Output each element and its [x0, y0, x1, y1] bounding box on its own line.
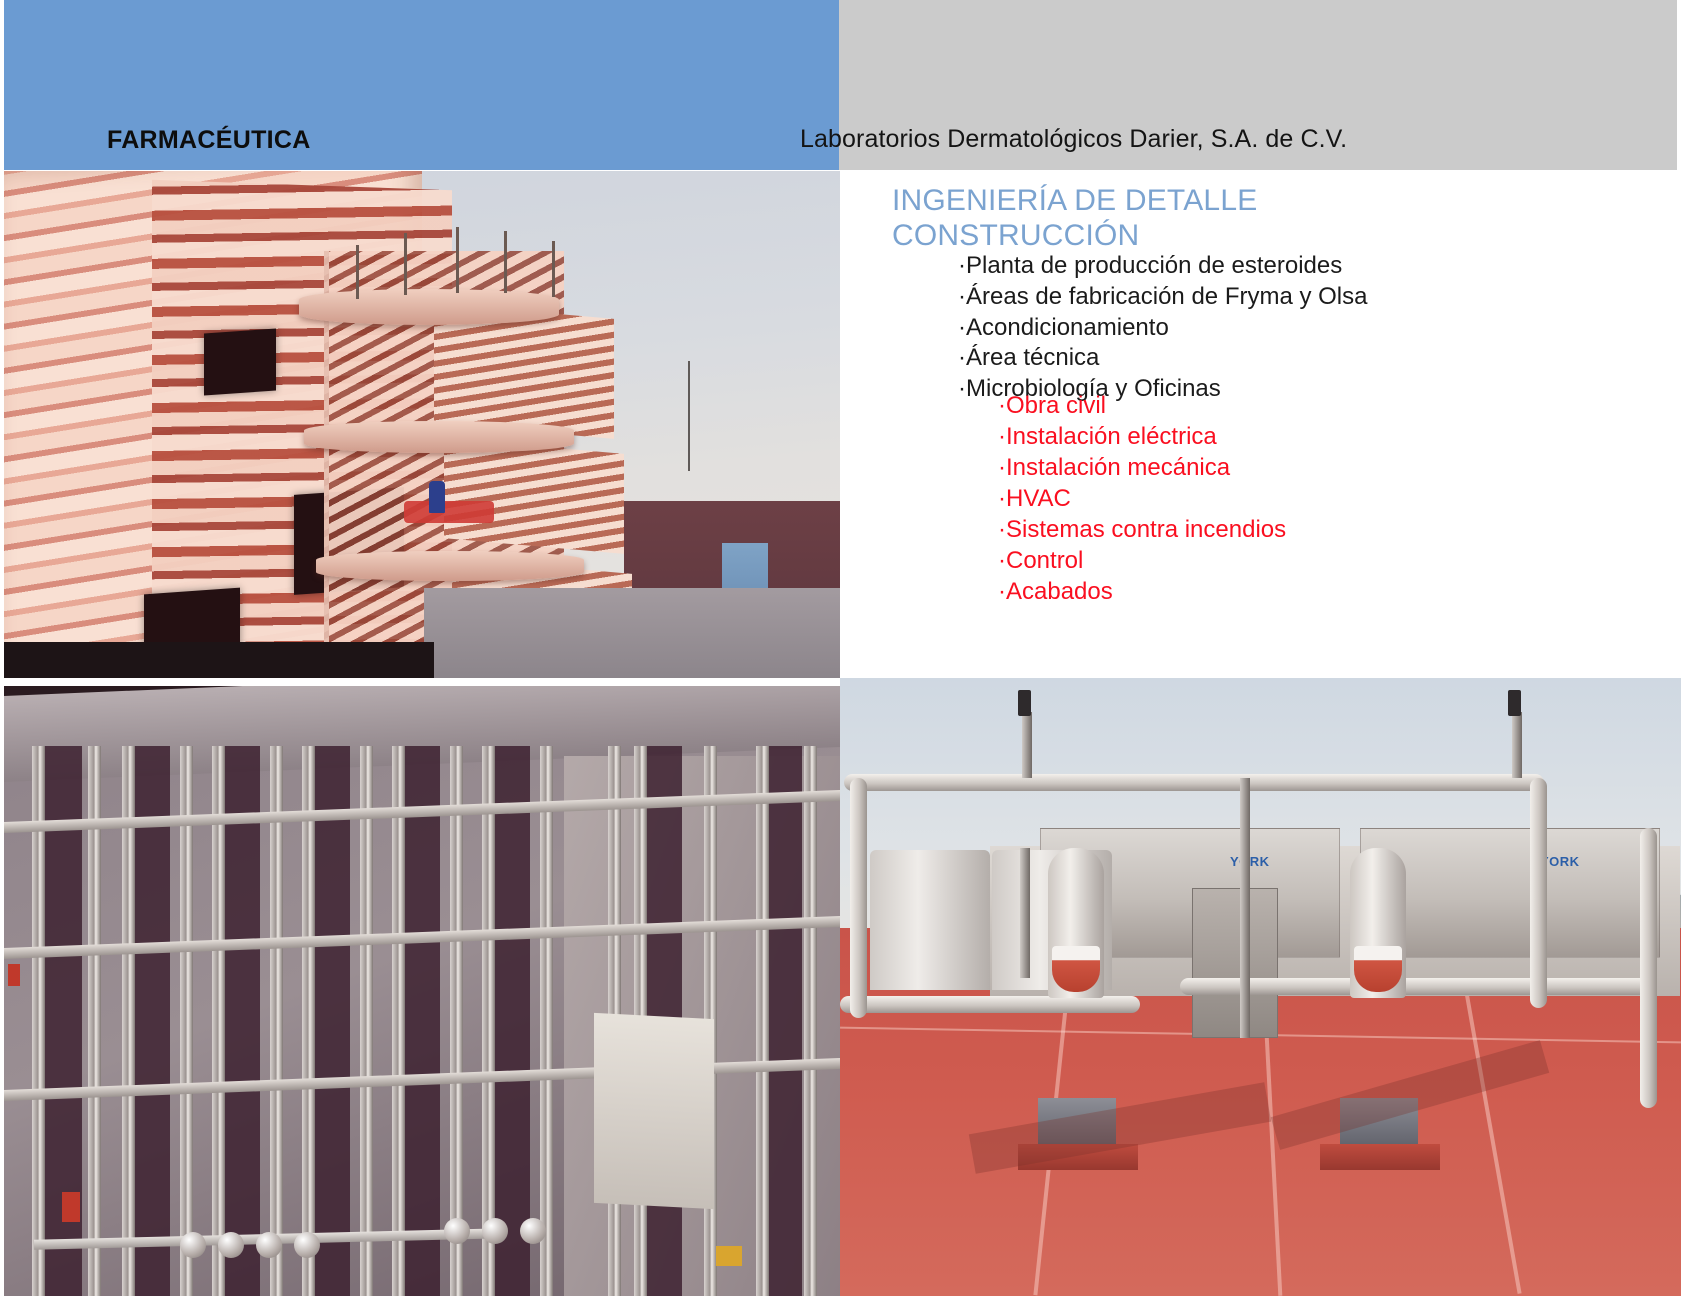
slide-root: FARMACÉUTICA Laboratorios Dermatológicos…	[0, 0, 1681, 1296]
riser-pipe	[1530, 778, 1547, 1008]
red-marker	[8, 964, 20, 986]
metal-stud	[180, 746, 193, 1296]
wall-cavity	[764, 746, 802, 1296]
valve-fitting	[444, 1218, 470, 1244]
wall-cavity	[402, 746, 440, 1296]
landing-deck	[304, 421, 574, 453]
lower-pipe	[840, 996, 1140, 1013]
heading-line-2: CONSTRUCCIÓN	[892, 218, 1257, 253]
rebar	[404, 233, 407, 295]
list-item: ·Acabados	[998, 577, 1286, 608]
rebar	[456, 227, 459, 293]
discipline-list: ·Obra civil ·Instalación eléctrica ·Inst…	[998, 391, 1286, 608]
sensor-probe	[1018, 690, 1031, 716]
client-name: Laboratorios Dermatológicos Darier, S.A.…	[800, 125, 1347, 154]
metal-stud	[122, 746, 135, 1296]
metal-stud	[392, 746, 405, 1296]
header-pipe	[844, 774, 1544, 791]
list-item: ·Instalación mecánica	[998, 453, 1286, 484]
rebar	[356, 245, 359, 299]
metal-stud	[540, 746, 553, 1296]
antenna-pole	[688, 361, 690, 471]
pump-housing	[1052, 946, 1100, 992]
wall-cavity	[312, 746, 350, 1296]
riser-pipe	[1640, 828, 1657, 1108]
list-item: ·Sistemas contra incendios	[998, 515, 1286, 546]
wall-cavity	[492, 746, 530, 1296]
metal-stud	[212, 746, 225, 1296]
page-title: FARMACÉUTICA	[107, 126, 311, 155]
valve-fitting	[294, 1232, 320, 1258]
section-heading: INGENIERÍA DE DETALLE CONSTRUCCIÓN	[892, 183, 1257, 254]
vent-stack	[1512, 712, 1522, 778]
warning-tag	[716, 1246, 742, 1266]
pump-housing	[1354, 946, 1402, 992]
heading-line-1: INGENIERÍA DE DETALLE	[892, 183, 1257, 218]
valve-fitting	[256, 1232, 282, 1258]
valve-fitting	[180, 1232, 206, 1258]
metal-stud	[360, 746, 373, 1296]
gypsum-board	[594, 1013, 714, 1209]
metal-stud	[804, 746, 817, 1296]
photo-stud-framing	[4, 686, 840, 1296]
ground-surface	[424, 588, 840, 678]
concrete-plinth	[1320, 1144, 1440, 1170]
list-item: ·Área técnica	[958, 343, 1368, 374]
list-item: ·Obra civil	[998, 391, 1286, 422]
list-item: ·Planta de producción de esteroides	[958, 251, 1368, 282]
vent-stack	[1022, 712, 1032, 778]
sensor-probe	[1508, 690, 1521, 716]
list-item: ·Instalación eléctrica	[998, 422, 1286, 453]
landing-deck	[299, 289, 559, 325]
list-item: ·Control	[998, 546, 1286, 577]
valve-fitting	[520, 1218, 546, 1244]
metal-stud	[450, 746, 463, 1296]
valve-fitting	[482, 1218, 508, 1244]
content-panel: INGENIERÍA DE DETALLE CONSTRUCCIÓN ·Plan…	[840, 171, 1681, 678]
list-item: ·HVAC	[998, 484, 1286, 515]
list-item: ·Áreas de fabricación de Fryma y Olsa	[958, 282, 1368, 313]
vent-stack	[1020, 848, 1030, 978]
photo-rooftop-chiller-plant: YORK YORK	[840, 678, 1681, 1296]
rebar	[504, 231, 507, 293]
ground-shadow	[4, 642, 434, 678]
valve-fitting	[218, 1232, 244, 1258]
wall-cavity	[132, 746, 170, 1296]
storage-tank	[870, 850, 990, 990]
rebar	[552, 241, 555, 297]
metal-stud	[482, 746, 495, 1296]
riser-pipe	[850, 778, 867, 1018]
photo-building-construction	[4, 171, 840, 678]
lower-pipe	[1180, 978, 1650, 995]
vent-stack	[1240, 778, 1250, 1038]
window-opening	[204, 328, 276, 395]
worker-figure	[429, 481, 445, 513]
metal-stud	[756, 746, 769, 1296]
scope-list: ·Planta de producción de esteroides ·Áre…	[958, 251, 1368, 405]
metal-stud	[302, 746, 315, 1296]
metal-stud	[270, 746, 283, 1296]
slatted-panel	[444, 438, 624, 554]
list-item: ·Acondicionamiento	[958, 313, 1368, 344]
worker-figure	[404, 501, 494, 523]
landing-deck	[316, 551, 584, 581]
wall-cavity	[222, 746, 260, 1296]
header-band: FARMACÉUTICA Laboratorios Dermatológicos…	[0, 0, 1681, 170]
red-marker	[62, 1192, 80, 1222]
electrical-cabinet	[1192, 888, 1278, 1038]
